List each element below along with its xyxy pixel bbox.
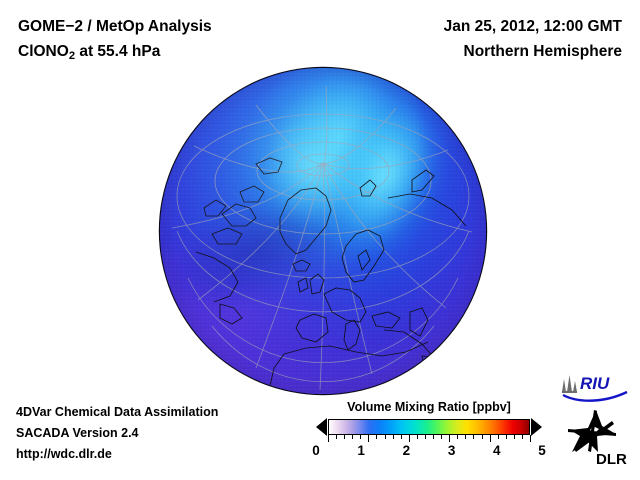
colorbar-tick-label: 4: [493, 443, 501, 459]
colorbar-ticks: [328, 435, 530, 442]
header-right: Jan 25, 2012, 12:00 GMT Northern Hemisph…: [444, 14, 622, 64]
dlr-logo: DLR: [566, 408, 632, 468]
colorbar-extend-min-icon: [316, 418, 327, 436]
colorbar-tick-major: [368, 435, 369, 442]
hemisphere-label: Northern Hemisphere: [444, 39, 622, 64]
globe-map: [160, 68, 486, 394]
colorbar-tick-major: [409, 435, 410, 442]
colorbar-tick-label: 0: [312, 443, 320, 459]
colorbar-tick-major: [449, 435, 450, 442]
colorbar-tick-minor: [393, 435, 394, 439]
colorbar-tick-minor: [522, 435, 523, 439]
colorbar-tick-minor: [336, 435, 337, 439]
colorbar: Volume Mixing Ratio [ppbv] 012345: [316, 400, 542, 461]
dlr-mark-icon: [568, 410, 616, 452]
dlr-wordmark: DLR: [596, 451, 627, 468]
colorbar-tick-label: 5: [538, 443, 546, 459]
globe-sphere: [160, 68, 486, 394]
title-dataset: GOME−2 / MetOp Analysis: [18, 14, 212, 39]
colorbar-tick-minor: [482, 435, 483, 439]
colorbar-tick-major: [530, 435, 531, 442]
colorbar-tick-minor: [425, 435, 426, 439]
colorbar-tick-minor: [498, 435, 499, 439]
colorbar-gradient: [328, 419, 530, 435]
colorbar-tick-minor: [506, 435, 507, 439]
colorbar-bar: [316, 418, 542, 436]
colorbar-tick-minor: [441, 435, 442, 439]
colorbar-tick-label: 3: [448, 443, 456, 459]
colorbar-tick-minor: [385, 435, 386, 439]
colorbar-tick-major: [328, 435, 329, 442]
colorbar-tick-minor: [344, 435, 345, 439]
species-name: ClONO: [18, 43, 69, 60]
colorbar-tick-minor: [465, 435, 466, 439]
colorbar-tick-labels: 012345: [316, 443, 542, 461]
colorbar-tick-minor: [352, 435, 353, 439]
colorbar-tick-label: 2: [403, 443, 411, 459]
colorbar-tick-major: [490, 435, 491, 442]
riu-logo: RIU: [558, 370, 630, 402]
riu-tower-icon: [562, 375, 577, 393]
sphere-highlight: [160, 68, 486, 394]
colorbar-title: Volume Mixing Ratio [ppbv]: [316, 400, 542, 414]
colorbar-tick-minor: [457, 435, 458, 439]
colorbar-tick-label: 1: [357, 443, 365, 459]
colorbar-tick-minor: [360, 435, 361, 439]
pressure-level: at 55.4 hPa: [75, 43, 160, 60]
colorbar-tick-minor: [417, 435, 418, 439]
colorbar-extend-max-icon: [531, 418, 542, 436]
colorbar-tick-minor: [514, 435, 515, 439]
header-left: GOME−2 / MetOp Analysis ClONO2 at 55.4 h…: [18, 14, 212, 69]
title-species-level: ClONO2 at 55.4 hPa: [18, 39, 212, 69]
method-label: 4DVar Chemical Data Assimilation: [16, 402, 218, 423]
version-label: SACADA Version 2.4: [16, 423, 218, 444]
timestamp: Jan 25, 2012, 12:00 GMT: [444, 14, 622, 39]
website-url: http://wdc.dlr.de: [16, 444, 218, 465]
colorbar-tick-minor: [376, 435, 377, 439]
footer-credits: 4DVar Chemical Data Assimilation SACADA …: [16, 402, 218, 465]
colorbar-tick-minor: [401, 435, 402, 439]
riu-swoosh-icon: [563, 392, 627, 401]
colorbar-tick-minor: [473, 435, 474, 439]
riu-wordmark: RIU: [580, 374, 610, 393]
colorbar-tick-minor: [433, 435, 434, 439]
